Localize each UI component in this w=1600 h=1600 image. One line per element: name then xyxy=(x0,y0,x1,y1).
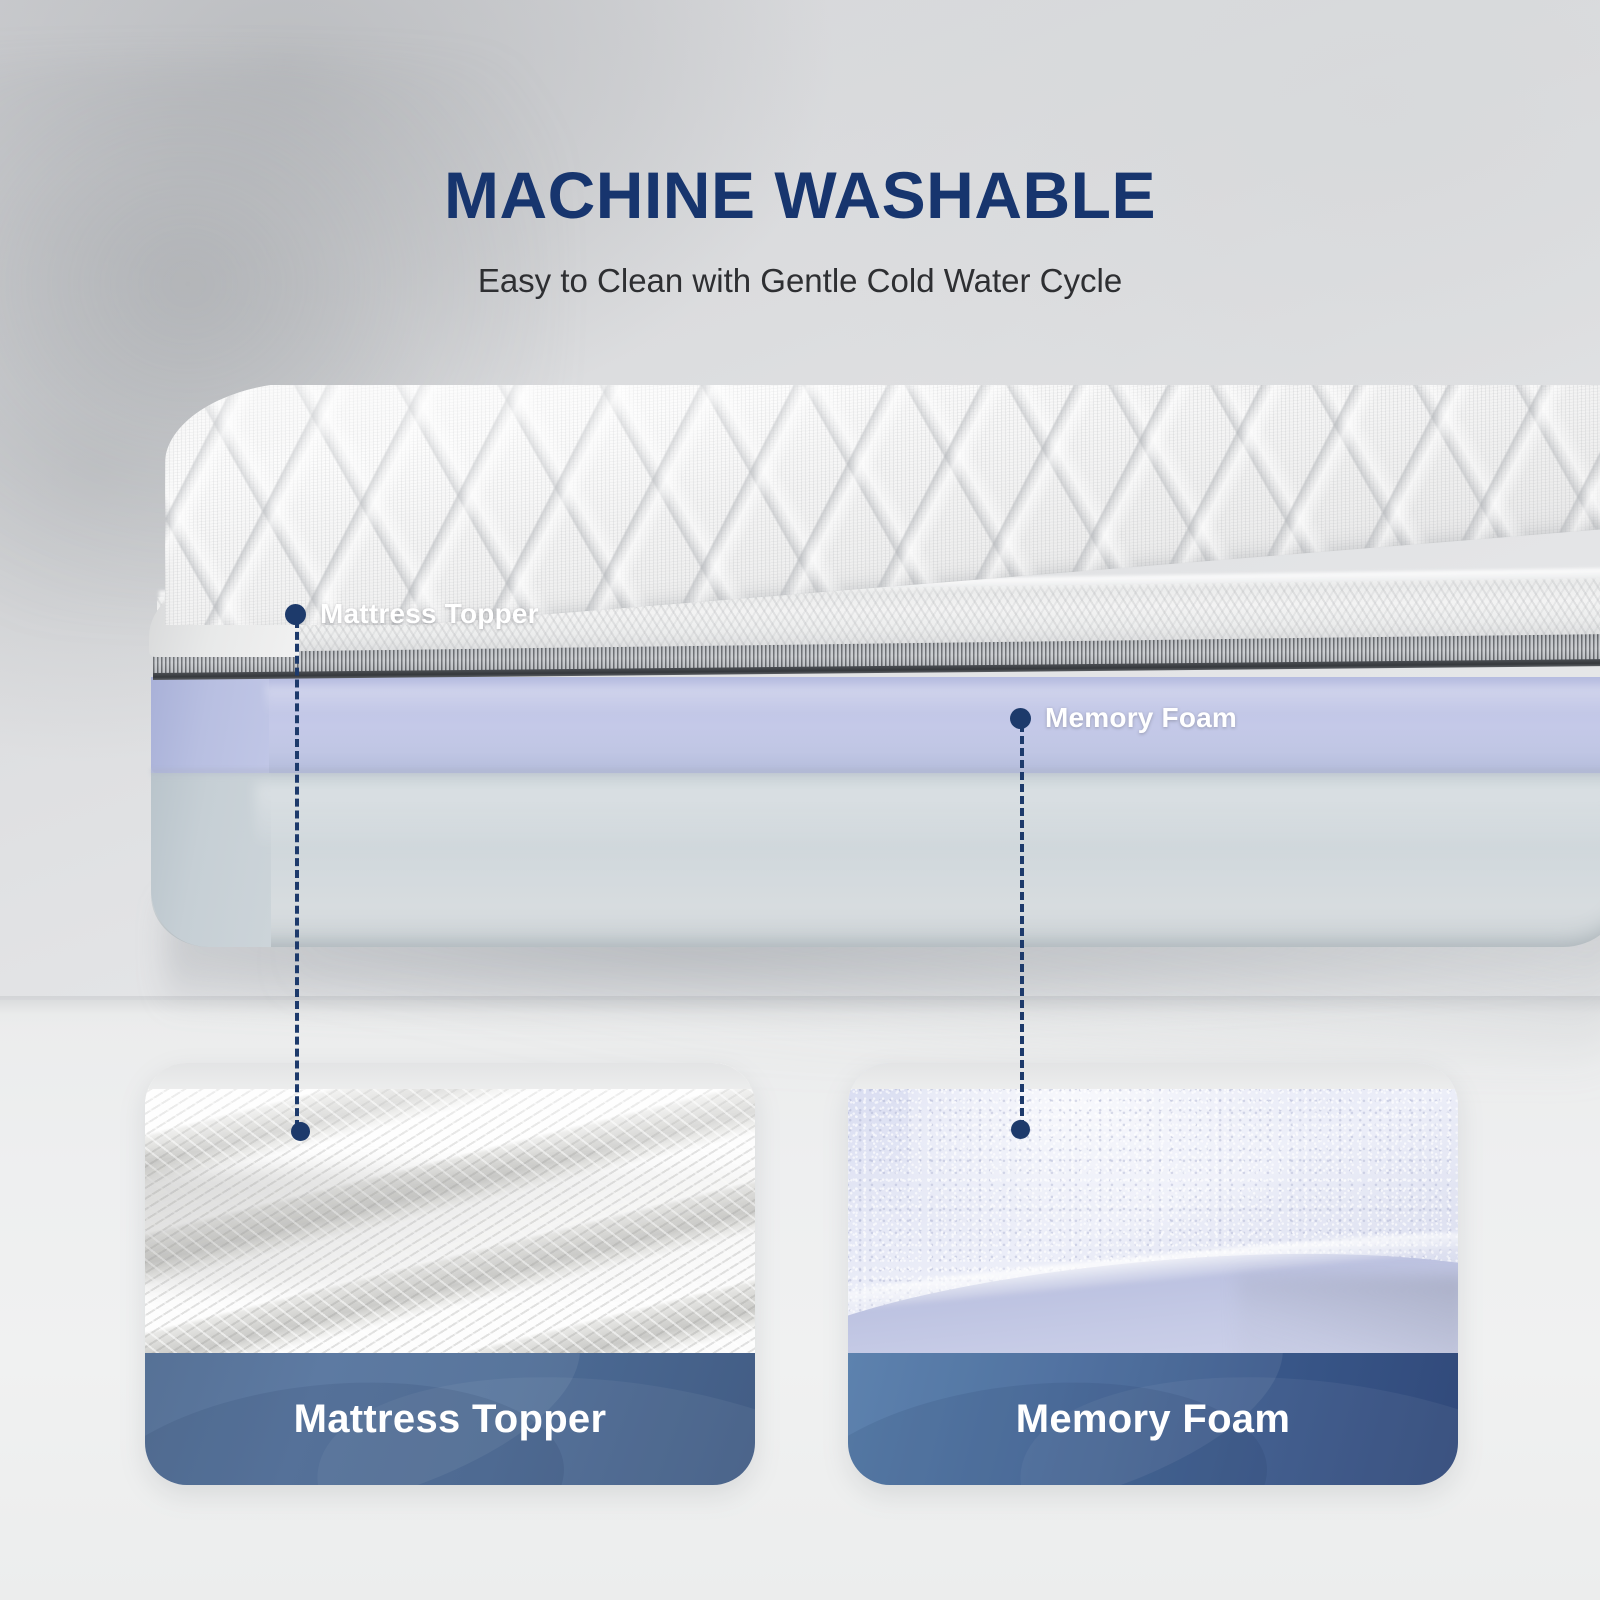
topper-top-face xyxy=(135,385,1600,625)
callout-memory-foam: Memory Foam xyxy=(1010,702,1237,734)
marker-dot-icon xyxy=(285,604,306,625)
layer-base-foam-highlight xyxy=(255,783,1600,843)
marker-dot-icon xyxy=(291,1122,310,1141)
connector-line-mattress-topper xyxy=(295,620,299,1128)
foam-corner-shadow xyxy=(1238,1275,1458,1353)
marker-dot-icon xyxy=(1011,1120,1030,1139)
mattress-illustration xyxy=(135,385,1600,960)
product-infographic: MACHINE WASHABLE Easy to Clean with Gent… xyxy=(0,0,1600,1600)
detail-card-memory-foam[interactable]: Memory Foam xyxy=(848,1063,1458,1485)
caption-bar-mattress-topper: Mattress Topper xyxy=(145,1353,755,1485)
caption-bar-memory-foam: Memory Foam xyxy=(848,1353,1458,1485)
callout-label-mattress-topper: Mattress Topper xyxy=(320,598,539,630)
layer-base-foam-corner xyxy=(151,765,271,947)
page-title: MACHINE WASHABLE xyxy=(0,162,1600,228)
photo-top-strip xyxy=(848,1063,1458,1089)
layer-memory-foam-highlight xyxy=(265,685,1600,715)
detail-photo-memory-foam xyxy=(848,1063,1458,1353)
layer-memory-foam-corner xyxy=(151,677,269,773)
topper-top-lighting xyxy=(165,385,1600,625)
page-subtitle: Easy to Clean with Gentle Cold Water Cyc… xyxy=(0,264,1600,297)
connector-line-memory-foam xyxy=(1020,724,1024,1128)
detail-card-mattress-topper[interactable]: Mattress Topper xyxy=(145,1063,755,1485)
photo-top-strip xyxy=(145,1063,755,1089)
fabric-shadow-band xyxy=(145,1168,755,1288)
layer-seam xyxy=(151,769,1600,777)
caption-text-mattress-topper: Mattress Topper xyxy=(294,1397,607,1442)
callout-mattress-topper: Mattress Topper xyxy=(285,598,539,630)
detail-photo-quilted-fabric xyxy=(145,1063,755,1353)
marker-dot-icon xyxy=(1010,708,1031,729)
caption-text-memory-foam: Memory Foam xyxy=(1016,1397,1290,1442)
callout-label-memory-foam: Memory Foam xyxy=(1045,702,1237,734)
